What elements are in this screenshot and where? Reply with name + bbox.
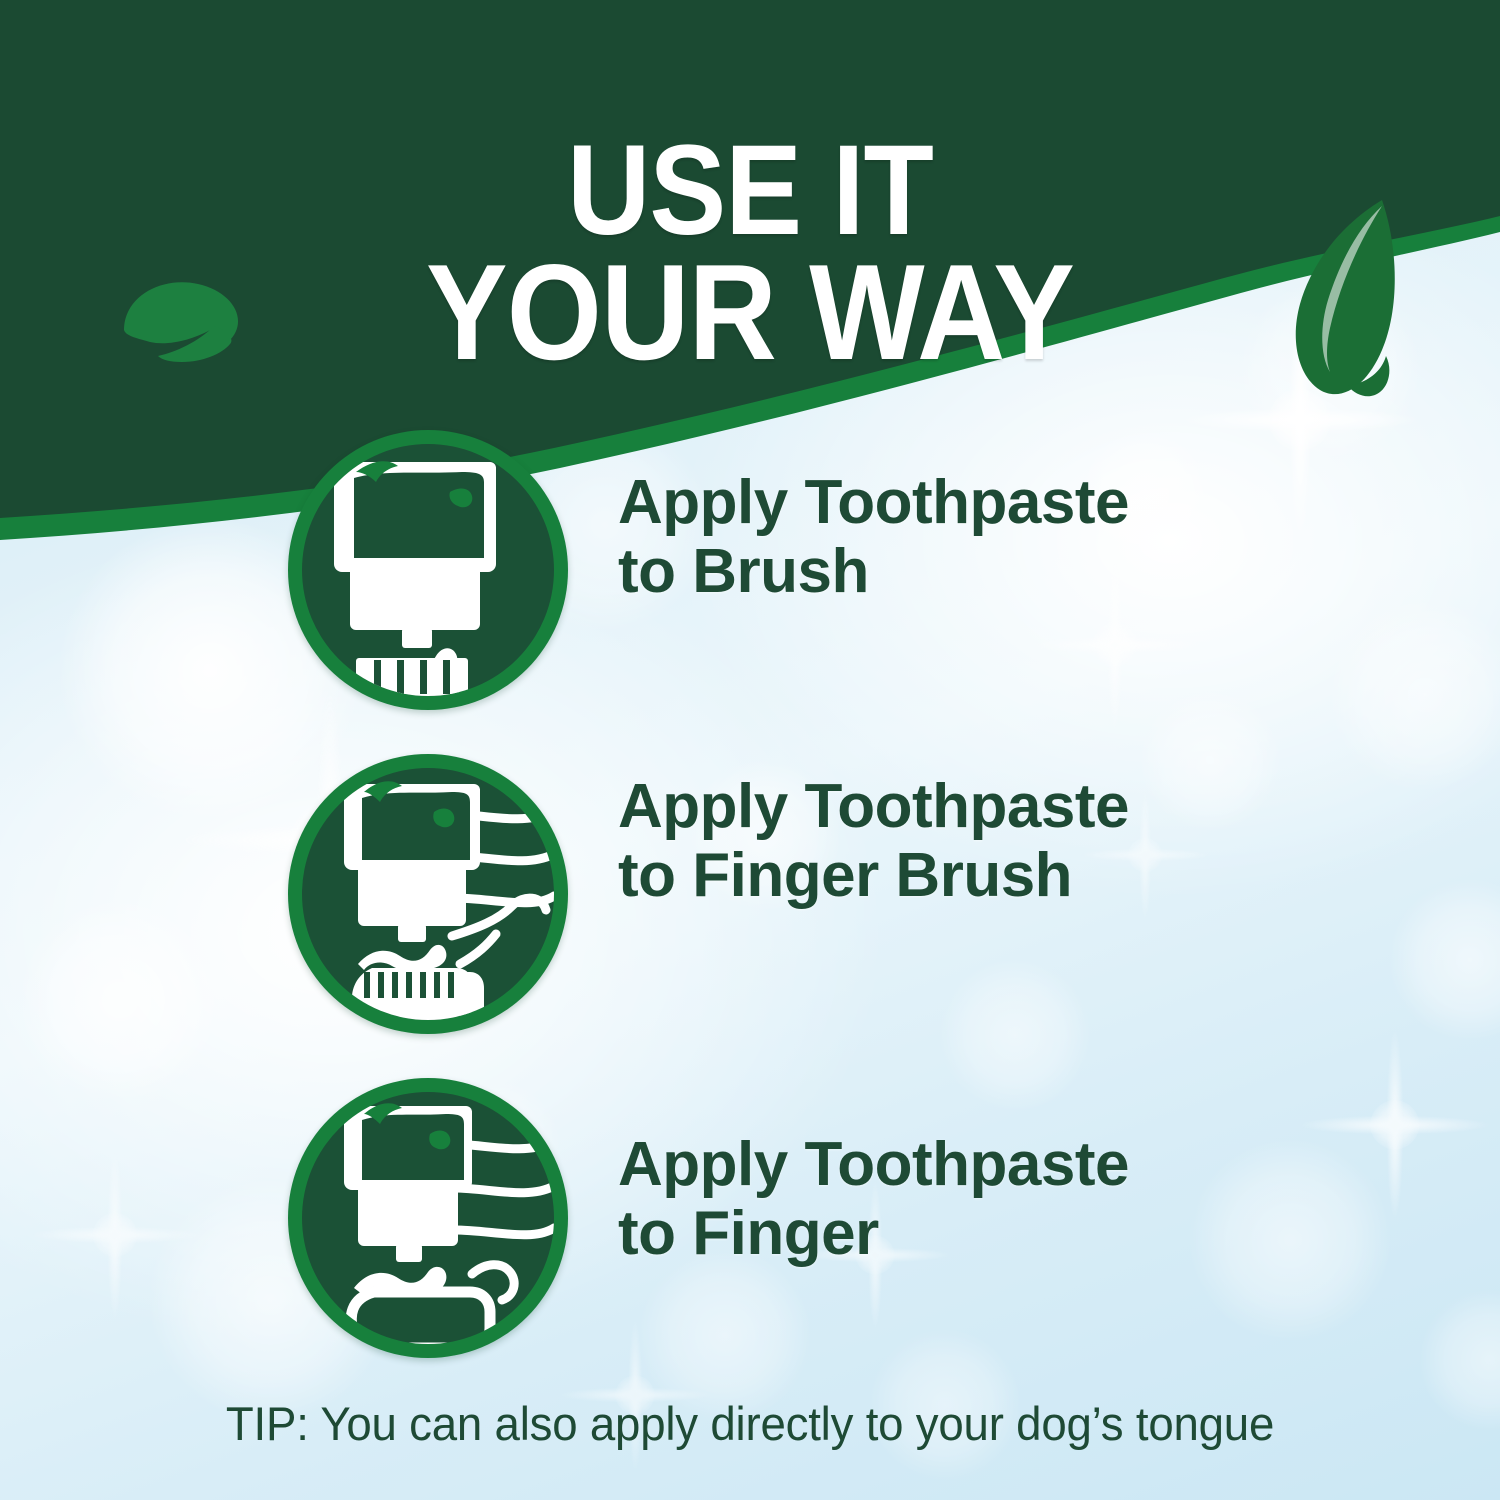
step-item: Apply Toothpaste to Finger Brush (0, 750, 1500, 1070)
tip-text: TIP: You can also apply directly to your… (23, 1396, 1478, 1451)
toothpaste-tube-finger-brush-icon (302, 768, 554, 1020)
step-icon-badge[interactable] (288, 430, 568, 710)
step-item: Apply Toothpaste to Brush (0, 430, 1500, 750)
step-item: Apply Toothpaste to Finger (0, 1070, 1500, 1390)
step-icon-badge[interactable] (288, 754, 568, 1034)
step-icon-badge[interactable] (288, 1078, 568, 1358)
title-line-2: YOUR WAY (75, 250, 1425, 375)
infographic-canvas: USE IT YOUR WAY (0, 0, 1500, 1500)
steps-list: Apply Toothpaste to Brush (0, 430, 1500, 1390)
step-label: Apply Toothpaste to Finger (618, 1130, 1318, 1269)
step-label: Apply Toothpaste to Finger Brush (618, 772, 1318, 911)
step-label: Apply Toothpaste to Brush (618, 468, 1318, 607)
page-title: USE IT YOUR WAY (75, 14, 1425, 492)
toothpaste-tube-toothbrush-icon (302, 444, 554, 696)
toothpaste-tube-finger-icon (302, 1092, 554, 1344)
